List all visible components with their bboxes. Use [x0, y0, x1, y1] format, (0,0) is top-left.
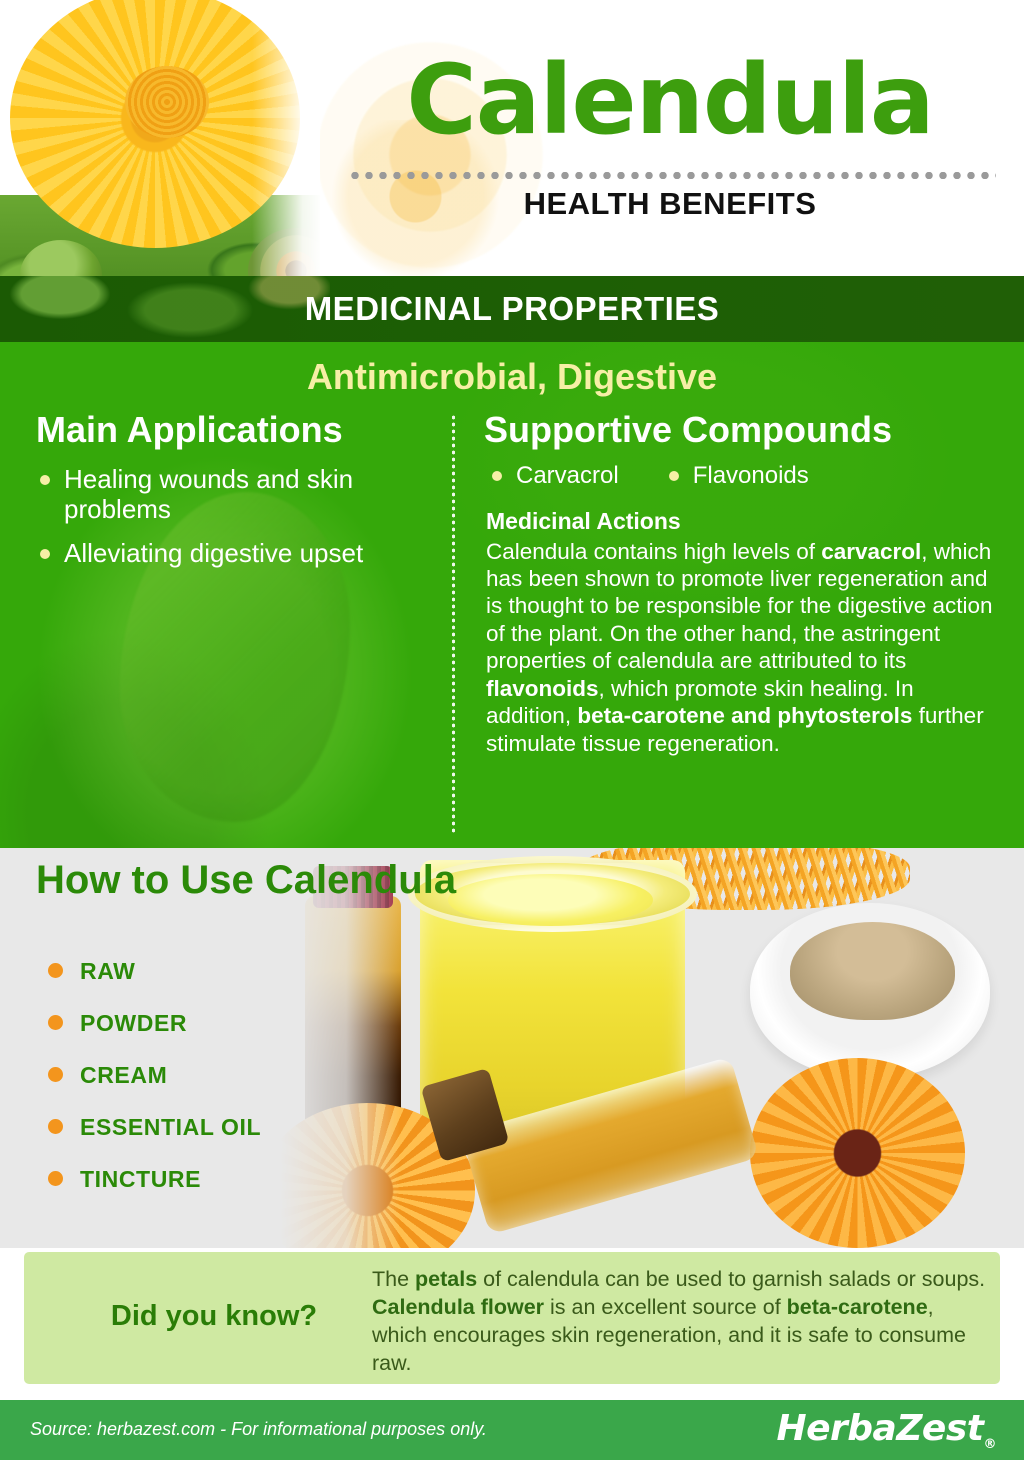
list-item: TINCTURE [44, 1166, 261, 1193]
list-item: CREAM [44, 1062, 261, 1089]
list-item: Alleviating digestive upset [36, 538, 436, 568]
how-to-use-section: How to Use Calendula RAW POWDER CREAM ES… [0, 848, 1024, 1248]
list-item: Carvacrol [490, 462, 619, 490]
header-dotted-divider [348, 172, 996, 179]
logo-text: HerbaZest [776, 1408, 983, 1449]
properties-list: Antimicrobial, Digestive [0, 356, 1024, 398]
registered-mark: ® [984, 1437, 997, 1452]
calendula-powder-graphic [790, 922, 955, 1020]
medicinal-properties-section: Antimicrobial, Digestive Main Applicatio… [0, 342, 1024, 848]
list-item: Flavonoids [667, 462, 809, 490]
supportive-compounds-list: Carvacrol Flavonoids [490, 462, 1000, 490]
supportive-compounds-column: Supportive Compounds Carvacrol Flavonoid… [484, 410, 1000, 757]
did-you-know-label: Did you know? [84, 1300, 344, 1333]
main-applications-column: Main Applications Healing wounds and ski… [36, 410, 436, 582]
page-title: Calendula [330, 52, 1010, 148]
supportive-compounds-heading: Supportive Compounds [484, 410, 1000, 450]
yellow-salve-graphic [448, 874, 653, 926]
infographic-page: Calendula HEALTH BENEFITS MEDICINAL PROP… [0, 0, 1024, 1460]
footer-bar: Source: herbazest.com - For informationa… [0, 1400, 1024, 1460]
medicinal-properties-title: MEDICINAL PROPERTIES [0, 276, 1024, 342]
list-item: POWDER [44, 1010, 261, 1037]
medicinal-actions-text: Calendula contains high levels of carvac… [486, 538, 1000, 758]
main-applications-list: Healing wounds and skin problems Allevia… [36, 464, 436, 568]
page-subtitle: HEALTH BENEFITS [330, 186, 1010, 222]
herbazest-logo: HerbaZest® [776, 1408, 996, 1452]
orange-flower-right-graphic [750, 1058, 965, 1248]
list-item: ESSENTIAL OIL [44, 1114, 261, 1141]
photo-left-fade-overlay [280, 848, 400, 1248]
did-you-know-box: Did you know? The petals of calendula ca… [24, 1252, 1000, 1384]
did-you-know-text: The petals of calendula can be used to g… [372, 1266, 992, 1378]
medicinal-actions-heading: Medicinal Actions [486, 508, 1000, 535]
how-to-use-list: RAW POWDER CREAM ESSENTIAL OIL TINCTURE [44, 958, 261, 1218]
product-photo-montage [280, 848, 1024, 1248]
how-to-use-heading: How to Use Calendula [36, 858, 456, 903]
main-applications-heading: Main Applications [36, 410, 436, 450]
column-divider [452, 414, 455, 834]
medicinal-properties-bar: MEDICINAL PROPERTIES [0, 276, 1024, 342]
list-item: Healing wounds and skin problems [36, 464, 436, 524]
source-text: Source: herbazest.com - For informationa… [30, 1419, 487, 1440]
list-item: RAW [44, 958, 261, 985]
flower-center-graphic [125, 66, 209, 138]
